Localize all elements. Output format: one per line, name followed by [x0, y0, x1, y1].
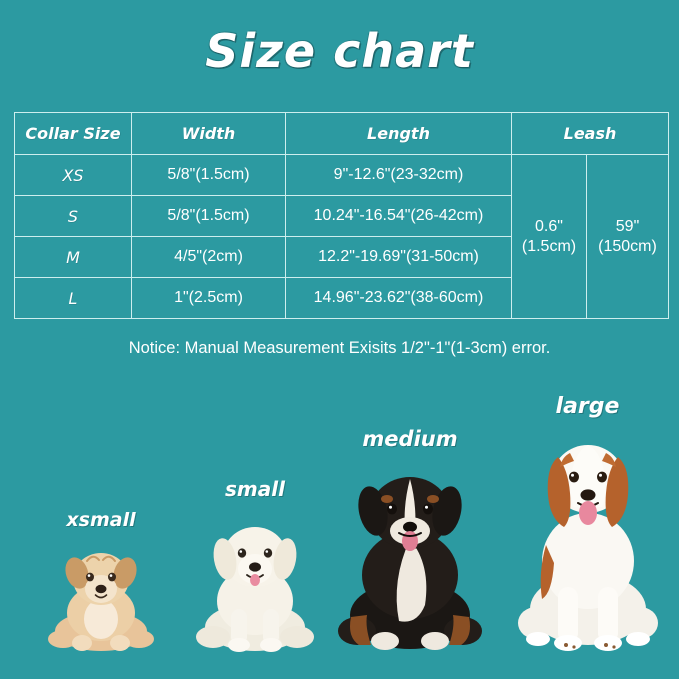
cell-size-l: L	[15, 278, 132, 319]
cell-leash-width: 0.6" (1.5cm)	[512, 155, 587, 319]
dog-photo-large	[508, 423, 668, 655]
header-length: Length	[286, 113, 512, 155]
cell-length-m: 12.2"-19.69"(31-50cm)	[286, 237, 512, 278]
cell-size-m: M	[15, 237, 132, 278]
leash-length-line1: 59"	[587, 217, 668, 237]
size-chart-page: Size chart Collar Size Width Length Leas…	[0, 0, 679, 679]
dog-large: large	[505, 394, 670, 655]
header-leash: Leash	[512, 113, 669, 155]
dog-medium: medium	[320, 427, 500, 655]
cell-size-xs: XS	[15, 155, 132, 196]
dog-photo-small	[187, 505, 323, 655]
cell-width-m: 4/5"(2cm)	[132, 237, 286, 278]
header-width: Width	[132, 113, 286, 155]
cell-length-xs: 9"-12.6"(23-32cm)	[286, 155, 512, 196]
dog-small: small	[185, 477, 325, 655]
dog-label-small: small	[225, 477, 285, 501]
cell-length-s: 10.24"-16.54"(26-42cm)	[286, 196, 512, 237]
cell-leash-length: 59" (150cm)	[587, 155, 669, 319]
size-table: Collar Size Width Length Leash XS 5/8"(1…	[14, 112, 669, 319]
leash-width-line1: 0.6"	[512, 217, 586, 237]
dog-size-illustrations: xsmall	[0, 370, 679, 679]
leash-width-line2: (1.5cm)	[512, 237, 586, 257]
table-header-row: Collar Size Width Length Leash	[15, 113, 669, 155]
cell-size-s: S	[15, 196, 132, 237]
cell-width-l: 1"(2.5cm)	[132, 278, 286, 319]
dog-label-medium: medium	[362, 427, 457, 451]
dog-label-large: large	[556, 394, 620, 419]
header-collar-size: Collar Size	[15, 113, 132, 155]
dog-photo-medium	[325, 455, 495, 655]
page-title: Size chart	[0, 24, 679, 78]
dog-xsmall: xsmall	[26, 509, 176, 655]
leash-length-line2: (150cm)	[587, 237, 668, 257]
dog-label-xsmall: xsmall	[66, 509, 135, 531]
table-row: XS 5/8"(1.5cm) 9"-12.6"(23-32cm) 0.6" (1…	[15, 155, 669, 196]
measurement-notice: Notice: Manual Measurement Exisits 1/2"-…	[0, 339, 679, 358]
dog-photo-xsmall	[37, 535, 165, 655]
cell-width-xs: 5/8"(1.5cm)	[132, 155, 286, 196]
cell-width-s: 5/8"(1.5cm)	[132, 196, 286, 237]
size-table-container: Collar Size Width Length Leash XS 5/8"(1…	[14, 112, 668, 313]
cell-length-l: 14.96"-23.62"(38-60cm)	[286, 278, 512, 319]
